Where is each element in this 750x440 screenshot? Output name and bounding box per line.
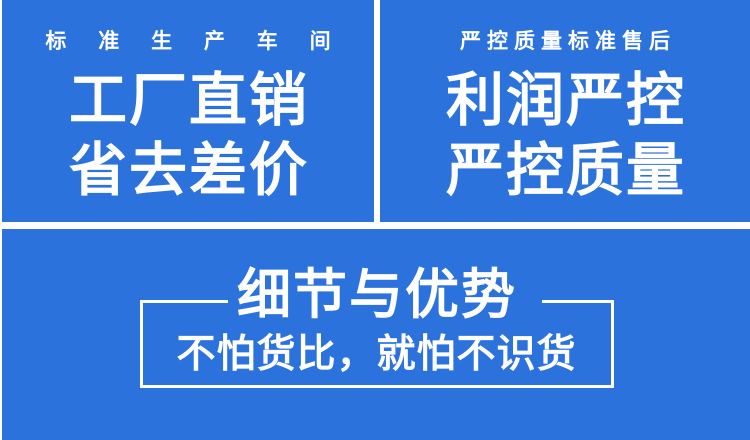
headline-factory-direct-line1: 工厂直销: [2, 72, 374, 130]
headline-factory-direct-line2: 省去差价: [2, 142, 374, 200]
section-subtitle-compare-goods: 不怕货比，就怕不识货: [2, 335, 750, 374]
eyebrow-quality-aftersales: 严控质量标准售后: [380, 31, 750, 52]
headline-quality-control-line2: 严控质量: [380, 142, 750, 200]
panel-quality-control: 严控质量标准售后 利润严控 严控质量: [380, 0, 750, 222]
section-title-details-advantages: 细节与优势: [2, 268, 750, 322]
panel-factory-direct: 标 准 生 产 车 间 工厂直销 省去差价: [2, 0, 374, 222]
panel-details-advantages: 细节与优势 不怕货比，就怕不识货: [2, 229, 750, 440]
headline-quality-control-line1: 利润严控: [380, 72, 750, 130]
promo-banner: 标 准 生 产 车 间 工厂直销 省去差价 严控质量标准售后 利润严控 严控质量…: [0, 0, 750, 440]
eyebrow-standard-workshop: 标 准 生 产 车 间: [2, 31, 374, 52]
